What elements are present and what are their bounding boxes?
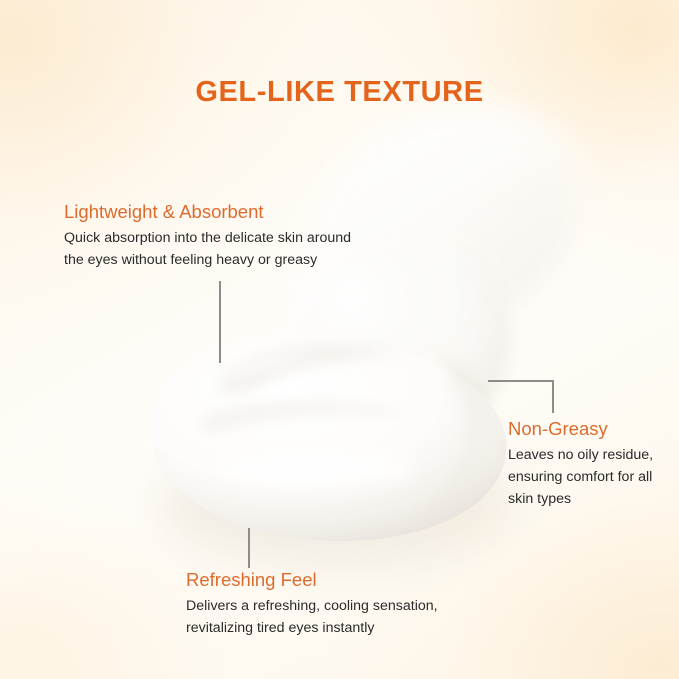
callout-body-line: revitalizing tired eyes instantly: [186, 617, 438, 639]
leader-line-nongreasy-vertical: [552, 380, 554, 413]
leader-line-refreshing: [248, 528, 250, 568]
callout-non-greasy: Non-Greasy Leaves no oily residue, ensur…: [508, 417, 653, 510]
callout-body-line: Leaves no oily residue,: [508, 444, 653, 466]
callout-body-line: ensuring comfort for all: [508, 466, 653, 488]
callout-refreshing: Refreshing Feel Delivers a refreshing, c…: [186, 568, 438, 639]
callout-heading-refreshing: Refreshing Feel: [186, 568, 438, 591]
callout-body-non-greasy: Leaves no oily residue, ensuring comfort…: [508, 444, 653, 510]
callout-heading-non-greasy: Non-Greasy: [508, 417, 653, 440]
product-infographic: GEL-LIKE TEXTURE Lightweight & Absorbent…: [0, 0, 679, 679]
callout-body-line: Quick absorption into the delicate skin …: [64, 227, 351, 249]
page-title: GEL-LIKE TEXTURE: [0, 76, 679, 109]
leader-line-nongreasy-horizontal: [488, 380, 554, 382]
leader-line-lightweight: [219, 281, 221, 363]
callout-body-line: Delivers a refreshing, cooling sensation…: [186, 595, 438, 617]
callout-body-refreshing: Delivers a refreshing, cooling sensation…: [186, 595, 438, 639]
callout-heading-lightweight: Lightweight & Absorbent: [64, 200, 351, 223]
callout-lightweight: Lightweight & Absorbent Quick absorption…: [64, 200, 351, 271]
callout-body-line: the eyes without feeling heavy or greasy: [64, 249, 351, 271]
callout-body-line: skin types: [508, 488, 653, 510]
callout-body-lightweight: Quick absorption into the delicate skin …: [64, 227, 351, 271]
